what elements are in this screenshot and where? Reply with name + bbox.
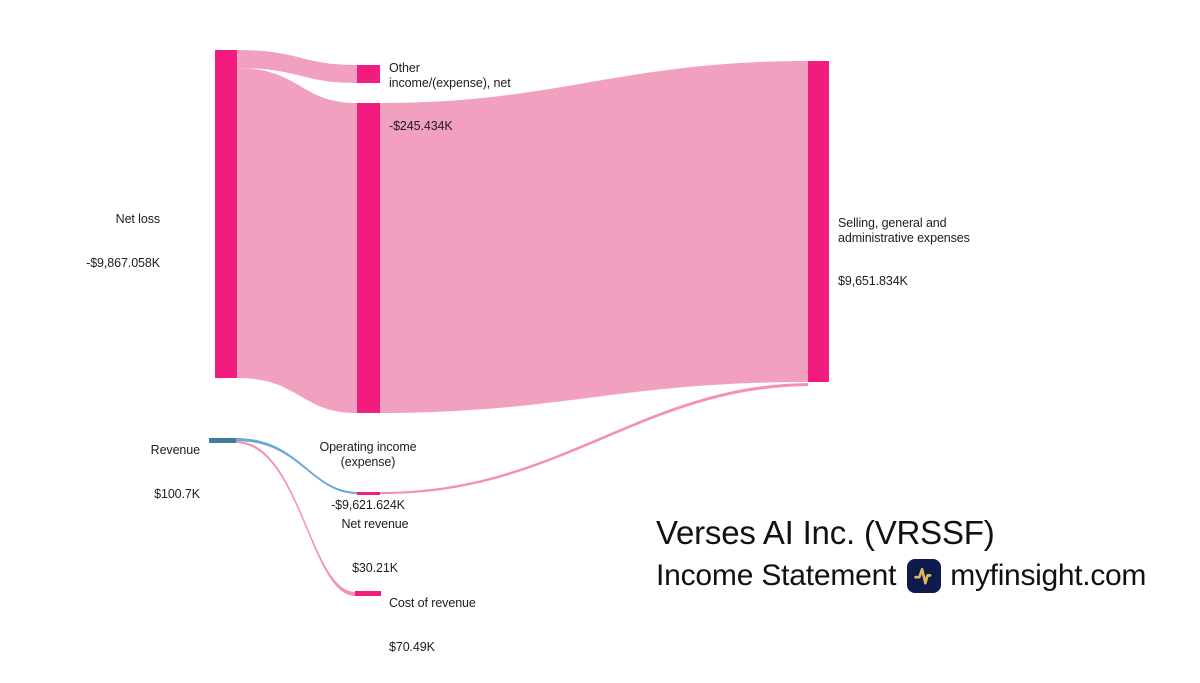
sankey-diagram: Net loss -$9,867.058K Other income/(expe… — [0, 0, 1200, 630]
node-label-other-income-expense: Other income/(expense), net -$245.434K — [389, 32, 609, 163]
link-net-loss-to-operating-income — [237, 68, 357, 413]
sankey-node-net-loss[interactable] — [215, 50, 237, 378]
activity-pulse-icon — [907, 559, 941, 593]
node-label-revenue-name: Revenue — [60, 443, 200, 458]
node-label-selling-general-administrative-name: Selling, general and administrative expe… — [838, 216, 1078, 245]
sankey-node-other-income-expense[interactable] — [357, 65, 380, 83]
site-domain: myfinsight.com — [950, 558, 1146, 594]
node-label-cost-of-revenue: Cost of revenue $70.49K — [389, 567, 569, 683]
sankey-node-selling-general-administrative[interactable] — [808, 61, 829, 382]
company-title: Verses AI Inc. (VRSSF) — [656, 513, 1126, 553]
branding-block: Verses AI Inc. (VRSSF) Income Statement … — [656, 513, 1126, 595]
node-label-revenue: Revenue $100.7K — [60, 414, 200, 530]
node-label-selling-general-administrative: Selling, general and administrative expe… — [838, 187, 1078, 318]
statement-subtitle: Income Statement — [656, 558, 896, 594]
node-label-cost-of-revenue-name: Cost of revenue — [389, 596, 569, 611]
node-label-net-loss: Net loss -$9,867.058K — [40, 183, 160, 299]
node-label-other-income-expense-name: Other income/(expense), net — [389, 61, 609, 90]
node-label-net-revenue-name: Net revenue — [285, 517, 465, 532]
node-label-selling-general-administrative-value: $9,651.834K — [838, 274, 1078, 289]
node-label-net-loss-value: -$9,867.058K — [40, 256, 160, 271]
branding-row: Income Statement myfinsight.com — [656, 557, 1126, 595]
node-label-operating-income-name: Operating income (expense) — [268, 440, 468, 469]
node-label-net-loss-name: Net loss — [40, 212, 160, 227]
node-label-other-income-expense-value: -$245.434K — [389, 119, 609, 134]
sankey-node-revenue[interactable] — [209, 438, 236, 443]
node-label-cost-of-revenue-value: $70.49K — [389, 640, 569, 655]
sankey-node-operating-income[interactable] — [357, 103, 380, 413]
node-label-revenue-value: $100.7K — [60, 487, 200, 502]
